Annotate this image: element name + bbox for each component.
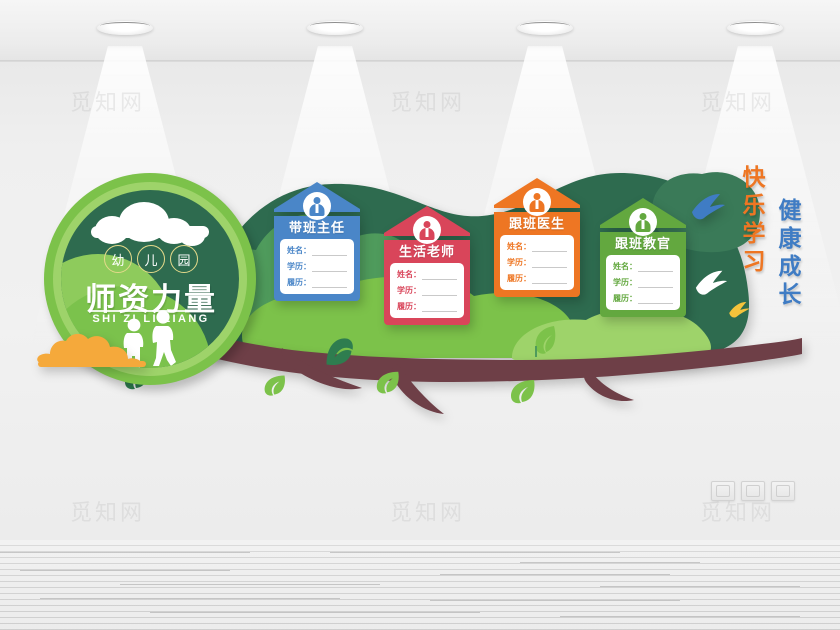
wall-mockup-scene: 觅知网 觅知网 觅知网 觅知网 觅知网 觅知网 觅知网 觅知网 xyxy=(0,0,840,630)
person-icon xyxy=(413,216,441,244)
watermark: 觅知网 xyxy=(700,85,775,117)
teacher-card[interactable]: 跟班教官 姓名： 学历： 履历： xyxy=(600,198,686,317)
field-line[interactable] xyxy=(638,294,673,304)
field-line[interactable] xyxy=(422,286,457,296)
field-line[interactable] xyxy=(312,262,347,272)
ceiling-light xyxy=(97,21,153,35)
field-line[interactable] xyxy=(532,242,567,252)
leaf-icon xyxy=(374,368,402,396)
field-row[interactable]: 姓名： xyxy=(613,261,673,272)
leaf-icon xyxy=(508,376,538,406)
badge-char: 幼 xyxy=(104,245,132,273)
person-icon xyxy=(629,208,657,236)
field-row[interactable]: 履历： xyxy=(507,273,567,284)
slogan-healthy-growth: 健康成长 xyxy=(770,198,804,310)
field-line[interactable] xyxy=(422,302,457,312)
field-row[interactable]: 履历： xyxy=(287,277,347,288)
field-label: 履历： xyxy=(507,273,531,284)
cloud-base xyxy=(91,226,209,238)
wall-outlet[interactable] xyxy=(741,481,765,501)
teacher-card[interactable]: 带班主任 姓名： 学历： 履历： xyxy=(274,182,360,301)
watermark: 觅知网 xyxy=(390,85,465,117)
field-row[interactable]: 姓名： xyxy=(507,241,567,252)
field-label: 姓名： xyxy=(287,245,311,256)
leaf-icon xyxy=(262,372,288,398)
wall-outlet[interactable] xyxy=(771,481,795,501)
field-label: 学历： xyxy=(613,277,637,288)
watermark: 觅知网 xyxy=(70,85,145,117)
field-label: 姓名： xyxy=(397,269,421,280)
teacher-card[interactable]: 跟班医生 姓名： 学历： 履历： xyxy=(494,178,580,297)
field-label: 履历： xyxy=(287,277,311,288)
ceiling-light xyxy=(517,21,573,35)
field-line[interactable] xyxy=(532,274,567,284)
watermark: 觅知网 xyxy=(390,495,465,527)
field-line[interactable] xyxy=(638,262,673,272)
badge-row: 幼 儿 园 xyxy=(87,245,215,273)
field-row[interactable]: 学历： xyxy=(507,257,567,268)
field-label: 学历： xyxy=(397,285,421,296)
watermark: 觅知网 xyxy=(70,495,145,527)
tree-branch xyxy=(162,310,802,420)
field-row[interactable]: 学历： xyxy=(287,261,347,272)
wall-art: 幼 儿 园 师资力量 SHI ZI LI LIANG xyxy=(22,150,812,420)
bird-yellow-icon xyxy=(728,300,750,320)
badge-char: 园 xyxy=(170,245,198,273)
person-icon xyxy=(303,192,331,220)
field-label: 履历： xyxy=(613,293,637,304)
person-icon xyxy=(523,188,551,216)
leaf-icon xyxy=(528,320,558,358)
ceiling-light xyxy=(307,21,363,35)
card-body: 带班主任 姓名： 学历： 履历： xyxy=(274,216,360,301)
wall-outlet[interactable] xyxy=(711,481,735,501)
leaf-icon xyxy=(322,335,356,369)
bird-white-icon xyxy=(694,268,728,298)
badge-char: 儿 xyxy=(137,245,165,273)
field-row[interactable]: 姓名： xyxy=(397,269,457,280)
card-fields: 姓名： 学历： 履历： xyxy=(390,263,464,318)
field-row[interactable]: 姓名： xyxy=(287,245,347,256)
field-label: 姓名： xyxy=(613,261,637,272)
card-body: 生活老师 姓名： 学历： 履历： xyxy=(384,240,470,325)
field-line[interactable] xyxy=(638,278,673,288)
field-row[interactable]: 履历： xyxy=(613,293,673,304)
field-row[interactable]: 学历： xyxy=(613,277,673,288)
teacher-card[interactable]: 生活老师 姓名： 学历： 履历： xyxy=(384,206,470,325)
ceiling-light xyxy=(727,21,783,35)
floor xyxy=(0,540,840,630)
card-fields: 姓名： 学历： 履历： xyxy=(606,255,680,310)
card-fields: 姓名： 学历： 履历： xyxy=(500,235,574,290)
bird-blue-icon xyxy=(690,192,726,222)
field-row[interactable]: 履历： xyxy=(397,301,457,312)
field-line[interactable] xyxy=(532,258,567,268)
field-label: 学历： xyxy=(287,261,311,272)
card-body: 跟班医生 姓名： 学历： 履历： xyxy=(494,212,580,297)
field-row[interactable]: 学历： xyxy=(397,285,457,296)
field-line[interactable] xyxy=(312,278,347,288)
orange-cloud-icon xyxy=(36,323,154,371)
card-body: 跟班教官 姓名： 学历： 履历： xyxy=(600,232,686,317)
emblem: 幼 儿 园 师资力量 SHI ZI LI LIANG xyxy=(44,173,256,385)
slogan-happy-learning: 快乐学习 xyxy=(734,165,768,277)
field-line[interactable] xyxy=(312,246,347,256)
field-label: 姓名： xyxy=(507,241,531,252)
field-label: 学历： xyxy=(507,257,531,268)
card-fields: 姓名： 学历： 履历： xyxy=(280,239,354,294)
field-line[interactable] xyxy=(422,270,457,280)
field-label: 履历： xyxy=(397,301,421,312)
